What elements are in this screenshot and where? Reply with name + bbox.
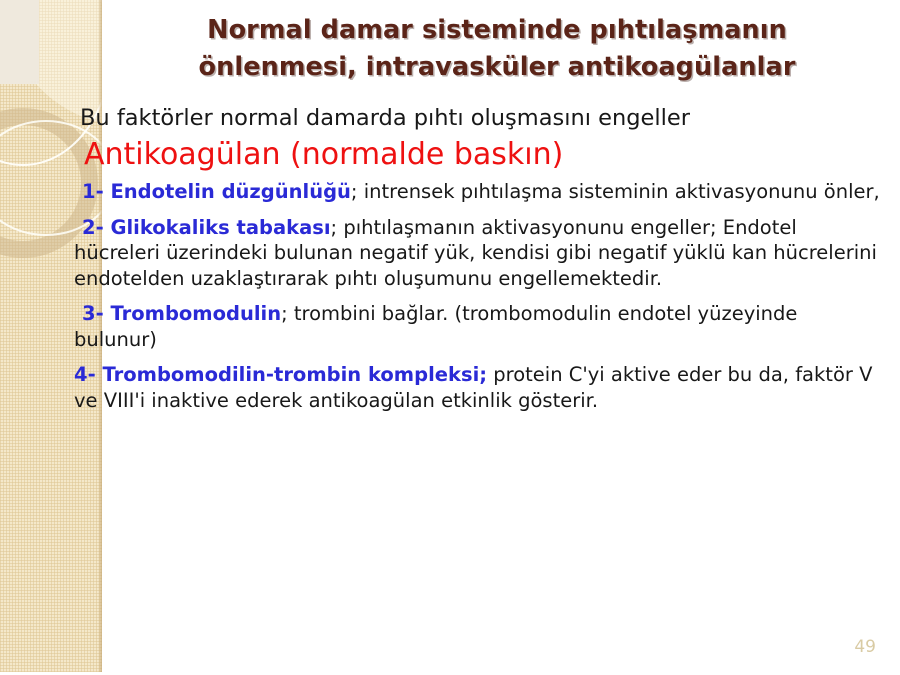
slide-title-line-2: önlenmesi, intravasküler antikoagülanlar	[112, 49, 882, 86]
page-number: 49	[854, 637, 876, 657]
list-item-key: 1- Endotelin düzgünlüğü	[74, 180, 351, 203]
list-item: 2- Glikokaliks tabakası; pıhtılaşmanın a…	[74, 215, 886, 292]
slide-title: Normal damar sisteminde pıhtılaşmanın ön…	[112, 12, 882, 86]
slide-body: Bu faktörler normal damarda pıhtı oluşma…	[74, 103, 886, 423]
list-item-text: ; intrensek pıhtılaşma sisteminin aktiva…	[351, 180, 880, 203]
list-item-key: 4- Trombomodilin-trombin kompleksi;	[74, 363, 487, 386]
list-item-key: 2- Glikokaliks tabakası	[74, 216, 331, 239]
list-item: 1- Endotelin düzgünlüğü; intrensek pıhtı…	[74, 179, 886, 205]
red-subheading: Antikoagülan (normalde baskın)	[84, 135, 886, 175]
slide-title-line-1: Normal damar sisteminde pıhtılaşmanın	[112, 12, 882, 49]
slide: Normal damar sisteminde pıhtılaşmanın ön…	[0, 0, 900, 675]
list-item-key: 3- Trombomodulin	[74, 302, 281, 325]
list-item: 3- Trombomodulin; trombini bağlar. (trom…	[74, 301, 886, 352]
list-item: 4- Trombomodilin-trombin kompleksi; prot…	[74, 362, 886, 413]
lead-paragraph: Bu faktörler normal damarda pıhtı oluşma…	[80, 103, 780, 133]
sidebar-corner-block-shape	[0, 0, 39, 84]
